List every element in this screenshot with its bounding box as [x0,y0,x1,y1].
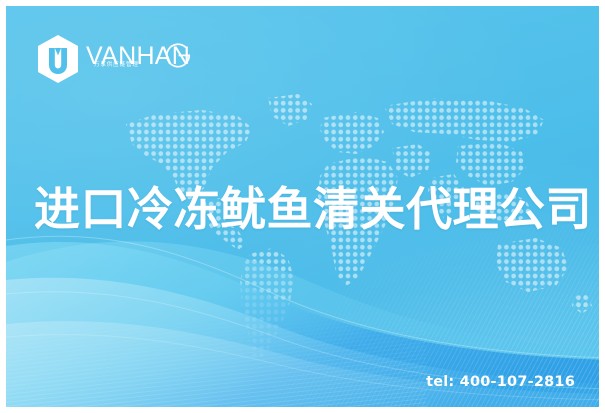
brand-subtitle: 万享供应链管理 [94,63,139,69]
headline-title: 进口冷冻鱿鱼清关代理公司 [34,182,586,236]
vanhang-hexagon-icon [36,34,80,84]
promo-banner: VANHAN 万享供应链管理 进口冷冻鱿鱼清关代理公司 tel: 400-107… [0,0,605,413]
contact-phone[interactable]: tel: 400-107-2816 [426,375,575,390]
banner-canvas: VANHAN 万享供应链管理 进口冷冻鱿鱼清关代理公司 tel: 400-107… [6,6,599,407]
wordmark-g-icon [163,40,193,70]
brand-wordmark: VANHAN 万享供应链管理 [86,39,194,79]
brand-logo[interactable]: VANHAN 万享供应链管理 [36,32,194,86]
